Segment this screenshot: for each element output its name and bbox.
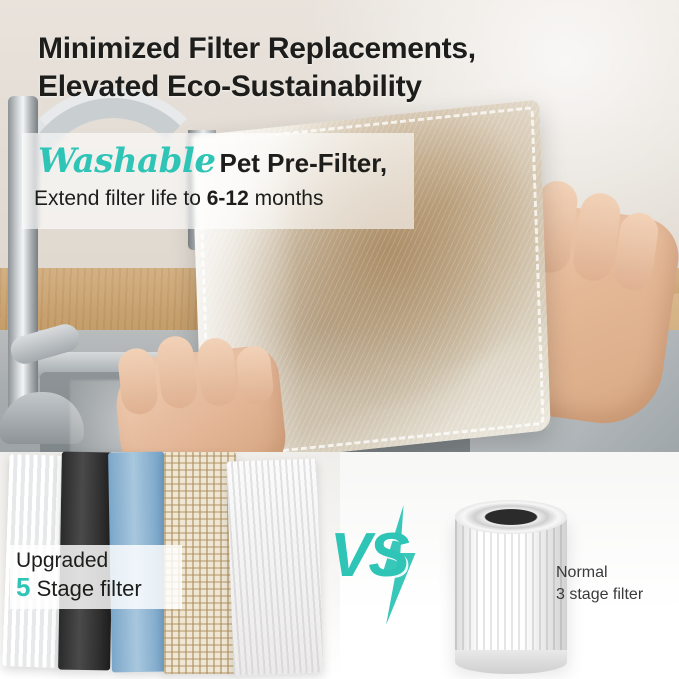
cylindrical-filter-bottom: [455, 650, 567, 674]
upgraded-filter-label-line1: Upgraded: [16, 549, 176, 573]
normal-filter-label-line1: Normal: [556, 562, 676, 584]
extend-life-suffix: months: [249, 187, 324, 210]
pet-prefilter-text: Pet Pre-Filter,: [219, 148, 387, 178]
banner-line-2: Extend filter life to 6-12 months: [34, 187, 323, 211]
headline-line-1: Minimized Filter Replacements,: [38, 30, 638, 68]
vs-label: VS: [330, 520, 407, 591]
headline-line-2: Elevated Eco-Sustainability: [38, 68, 638, 106]
months-range: 6-12: [207, 187, 249, 210]
normal-filter-label: Normal 3 stage filter: [556, 562, 676, 607]
cylindrical-filter-body: [455, 515, 567, 665]
product-infographic: VS Upgraded 5 Stage filter Normal 3 stag…: [0, 0, 679, 679]
banner-line-1: WashablePet Pre-Filter,: [38, 141, 387, 181]
stage-text: Stage filter: [30, 576, 141, 601]
stage-count: 5: [16, 572, 30, 602]
washable-emphasis: Washable: [38, 141, 215, 181]
upgraded-filter-label: Upgraded 5 Stage filter: [10, 545, 182, 609]
upgraded-filter-label-line2: 5 Stage filter: [16, 573, 176, 603]
filter-layer-white-mesh: [226, 458, 323, 675]
extend-life-prefix: Extend filter life to: [34, 187, 207, 210]
cylindrical-filter-top: [455, 500, 567, 534]
headline: Minimized Filter Replacements, Elevated …: [38, 30, 638, 106]
cylindrical-filter-pleats: [455, 515, 567, 665]
washable-banner: WashablePet Pre-Filter, Extend filter li…: [22, 133, 414, 229]
normal-filter-label-line2: 3 stage filter: [556, 584, 676, 606]
